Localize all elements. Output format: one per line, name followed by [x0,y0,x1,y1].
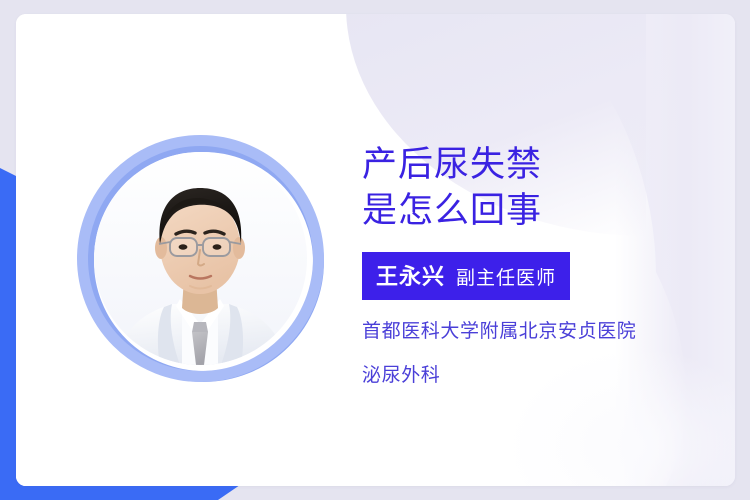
doctor-info-card: 产后尿失禁 是怎么回事 王永兴 副主任医师 首都医科大学附属北京安贞医院 泌尿外… [16,14,735,486]
page-title: 产后尿失禁 是怎么回事 [362,142,722,234]
department-name: 泌尿外科 [362,365,722,387]
avatar [77,135,330,388]
doctor-title: 副主任医师 [456,263,556,290]
doctor-portrait-photo [94,152,307,365]
cover-card-canvas: 产后尿失禁 是怎么回事 王永兴 副主任医师 首都医科大学附属北京安贞医院 泌尿外… [0,0,750,500]
doctor-text-column: 产后尿失禁 是怎么回事 王永兴 副主任医师 首都医科大学附属北京安贞医院 泌尿外… [362,142,722,387]
doctor-name: 王永兴 [376,259,445,291]
status-badge: 王永兴 副主任医师 [362,252,570,300]
hospital-name: 首都医科大学附属北京安贞医院 [362,321,722,343]
